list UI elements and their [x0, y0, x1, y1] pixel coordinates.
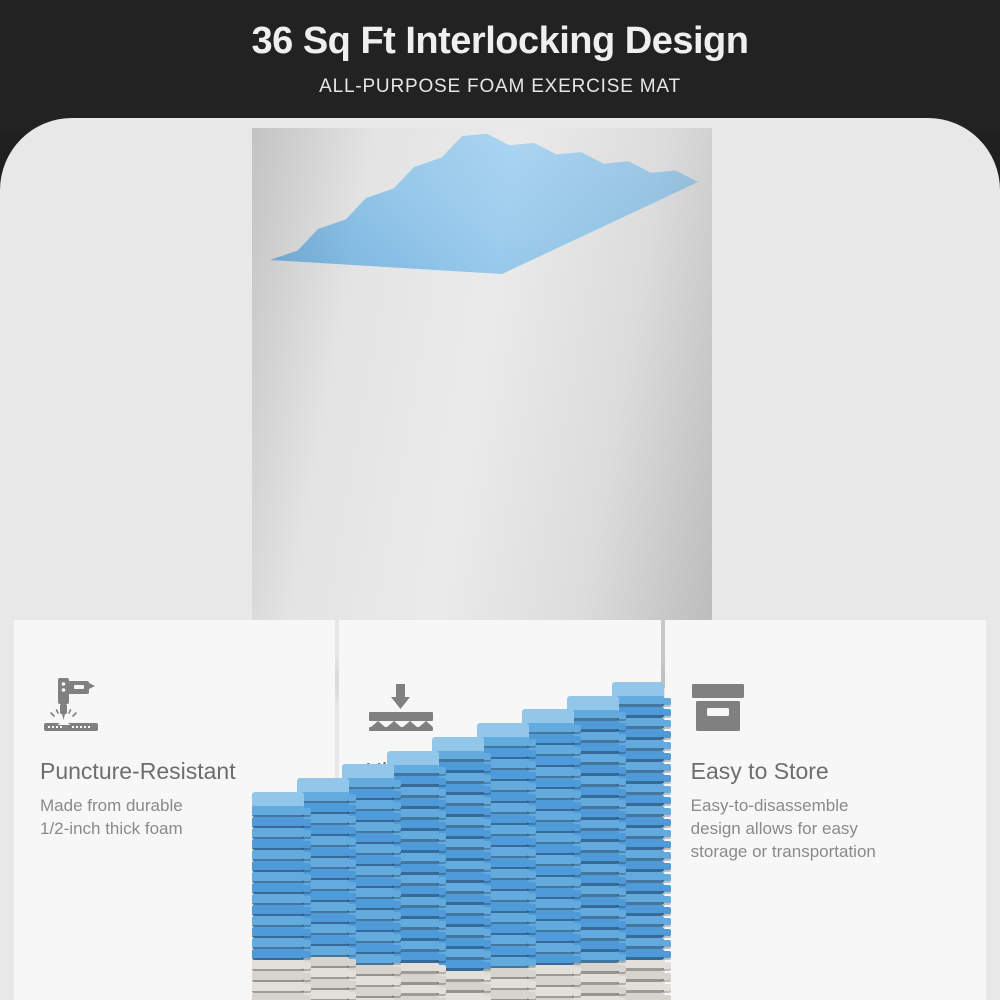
- stack-top-surface: [266, 128, 702, 278]
- foam-tile: [252, 905, 304, 916]
- foam-tile: [252, 993, 304, 1000]
- foam-tile: [252, 982, 304, 993]
- page-title: 36 Sq Ft Interlocking Design: [252, 22, 749, 62]
- foam-tile: [252, 883, 304, 894]
- foam-tile: [252, 938, 304, 949]
- storage-box-icon: [691, 668, 960, 734]
- foam-mat-stack: [252, 128, 712, 688]
- foam-tile: [252, 916, 304, 927]
- foam-tile: [252, 894, 304, 905]
- feature-card-description: Easy-to-disassemble design allows for ea…: [691, 795, 960, 864]
- feature-card-title: Easy to Store: [691, 758, 960, 785]
- foam-tile: [252, 850, 304, 861]
- foam-tile: [342, 778, 394, 789]
- foam-tile: [252, 839, 304, 850]
- foam-tile: [297, 792, 349, 803]
- feature-card-title: Puncture-Resistant: [40, 758, 309, 785]
- foam-tile: [612, 696, 664, 707]
- foam-tile: [567, 996, 619, 1000]
- top-surface-polygon: [270, 134, 698, 274]
- foam-tile: [252, 949, 304, 960]
- foam-tile: [387, 996, 439, 1000]
- drill-puncture-icon: [40, 668, 309, 734]
- foam-tile: [522, 723, 574, 734]
- foam-tile: [477, 737, 529, 748]
- foam-tile: [432, 751, 484, 762]
- foam-tile: [252, 861, 304, 872]
- foam-tile: [567, 710, 619, 721]
- page-subtitle: ALL-PURPOSE FOAM EXERCISE MAT: [319, 76, 681, 98]
- feature-card-easy-to-store: Easy to Store Easy-to-disassemble design…: [665, 620, 986, 1000]
- foam-tile: [252, 927, 304, 938]
- foam-tile: [252, 806, 304, 817]
- foam-tile: [387, 765, 439, 776]
- foam-tile: [252, 817, 304, 828]
- stack-shading: [252, 128, 712, 688]
- header-banner: 36 Sq Ft Interlocking Design ALL-PURPOSE…: [0, 0, 1000, 132]
- foam-tile: [252, 971, 304, 982]
- foam-tile: [252, 872, 304, 883]
- foam-tile: [252, 828, 304, 839]
- main-panel: Puncture-Resistant Made from durable 1/2…: [0, 118, 1000, 1000]
- foam-tile: [252, 960, 304, 971]
